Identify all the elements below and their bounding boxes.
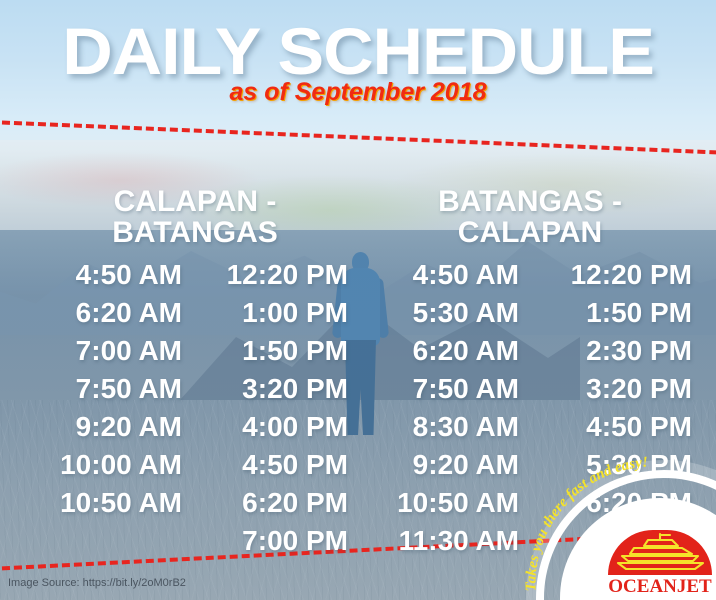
time-entry: 10:50 AM [20,486,182,524]
time-entry: 1:50 PM [186,334,348,372]
time-entry: 7:00 AM [20,334,182,372]
oceanjet-logo: OCEANJET [606,530,714,600]
logo-dome-shape [608,530,712,575]
time-entry: 10:00 AM [20,448,182,486]
time-entry: 1:50 PM [522,296,692,334]
time-entry: 12:20 PM [186,258,348,296]
route-heading-line1: CALAPAN - [114,185,277,218]
time-entry: 3:20 PM [186,372,348,410]
time-entry: 10:50 AM [355,486,519,524]
route-heading-line2: BATANGAS [112,216,278,249]
time-entry: 12:20 PM [522,258,692,296]
time-entry: 7:00 PM [186,524,348,562]
time-entry: 4:50 PM [186,448,348,486]
times-calapan-batangas-am: 4:50 AM 6:20 AM 7:00 AM 7:50 AM 9:20 AM … [20,258,182,524]
time-entry: 5:30 AM [355,296,519,334]
time-entry: 3:20 PM [522,372,692,410]
image-source-note: Image Source: https://bit.ly/2oM0rB2 [8,577,186,589]
time-entry: 4:00 PM [186,410,348,448]
time-entry: 1:00 PM [186,296,348,334]
time-entry: 7:50 AM [355,372,519,410]
route-heading-line2: CALAPAN [458,216,602,249]
daily-schedule-poster: DAILY SCHEDULE as of September 2018 CALA… [0,0,716,600]
times-calapan-batangas-pm: 12:20 PM 1:00 PM 1:50 PM 3:20 PM 4:00 PM… [186,258,348,562]
times-batangas-calapan-am: 4:50 AM 5:30 AM 6:20 AM 7:50 AM 8:30 AM … [355,258,519,562]
time-entry: 8:30 AM [355,410,519,448]
route-heading-calapan-batangas: CALAPAN - BATANGAS [30,186,360,248]
time-entry: 6:20 AM [355,334,519,372]
page-title: DAILY SCHEDULE [0,18,716,84]
time-entry: 11:30 AM [355,524,519,562]
page-subtitle: as of September 2018 [0,80,716,105]
logo-wordmark: OCEANJET [606,576,714,598]
route-heading-batangas-calapan: BATANGAS - CALAPAN [370,186,690,248]
time-entry: 9:20 AM [355,448,519,486]
time-entry: 2:30 PM [522,334,692,372]
time-entry: 4:50 AM [20,258,182,296]
boat-icon [608,530,712,575]
time-entry: 4:50 PM [522,410,692,448]
time-entry: 4:50 AM [355,258,519,296]
time-entry: 9:20 AM [20,410,182,448]
route-heading-line1: BATANGAS - [438,185,622,218]
time-entry: 6:20 AM [20,296,182,334]
time-entry: 7:50 AM [20,372,182,410]
time-entry: 6:20 PM [186,486,348,524]
